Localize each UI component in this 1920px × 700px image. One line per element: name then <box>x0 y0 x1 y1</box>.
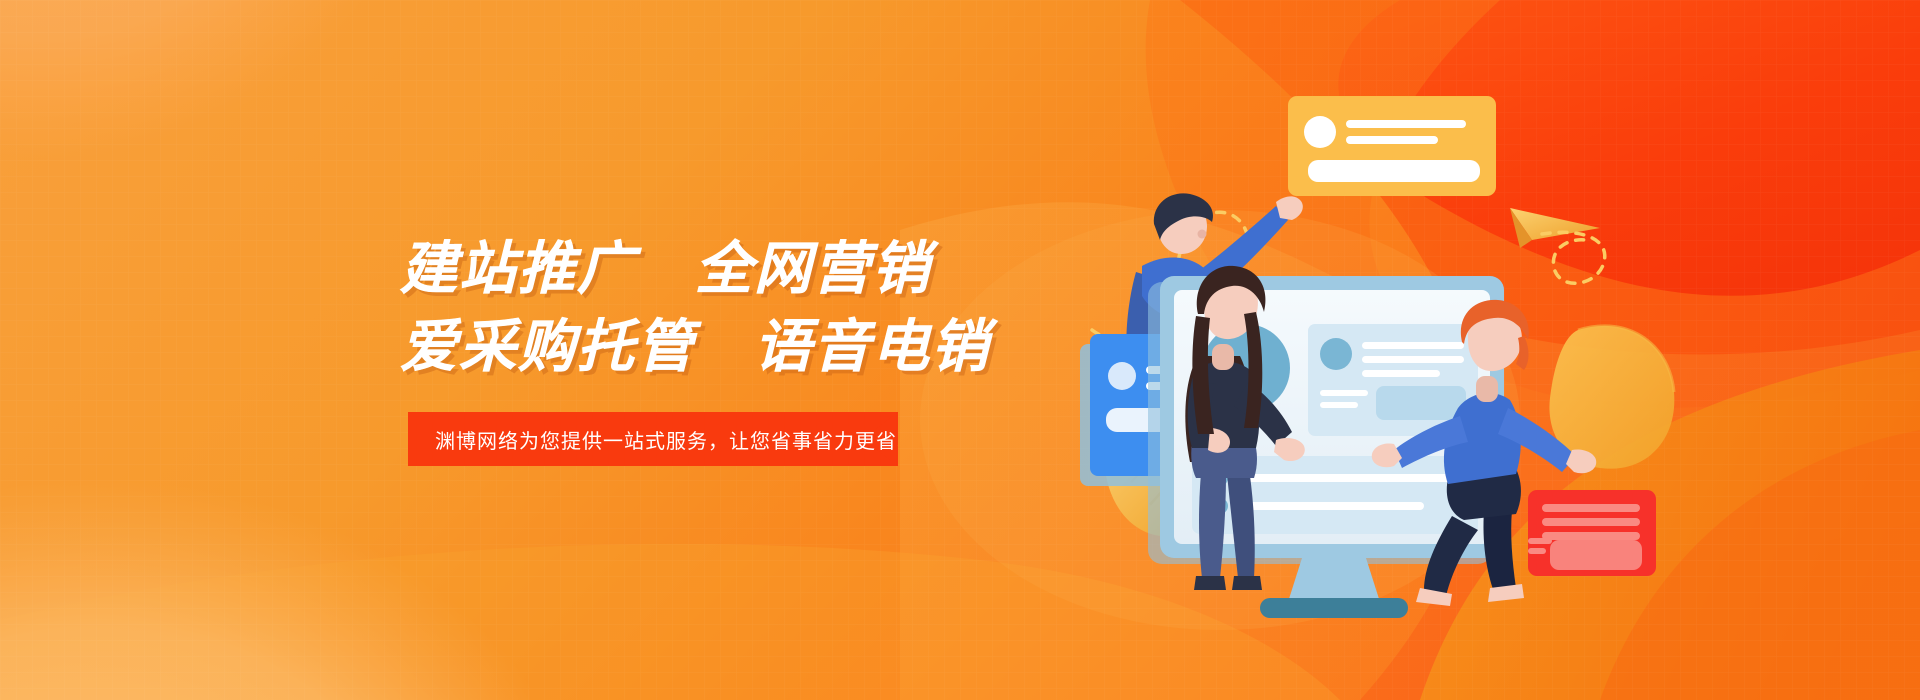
promo-banner: 建站推广 全网营销 爱采购托管 语音电销 渊博网络为您提供一站式服务，让您省事省… <box>0 0 1920 700</box>
banner-copy: 建站推广 全网营销 爱采购托管 语音电销 渊博网络为您提供一站式服务，让您省事省… <box>400 232 960 466</box>
paper-plane <box>1510 208 1600 248</box>
dashed-trail <box>1542 232 1605 283</box>
yellow-notification-card <box>1288 96 1496 196</box>
autumn-leaf-right <box>1549 326 1674 469</box>
hero-illustration <box>1080 90 1760 620</box>
tagline-ribbon: 渊博网络为您提供一站式服务，让您省事省力更省心 <box>408 412 898 466</box>
headline-line-2: 爱采购托管 语音电销 <box>400 310 960 384</box>
headline-line-1: 建站推广 全网营销 <box>400 232 960 306</box>
red-message-card <box>1528 490 1656 576</box>
tagline-text: 渊博网络为您提供一站式服务，让您省事省力更省心 <box>408 425 918 454</box>
